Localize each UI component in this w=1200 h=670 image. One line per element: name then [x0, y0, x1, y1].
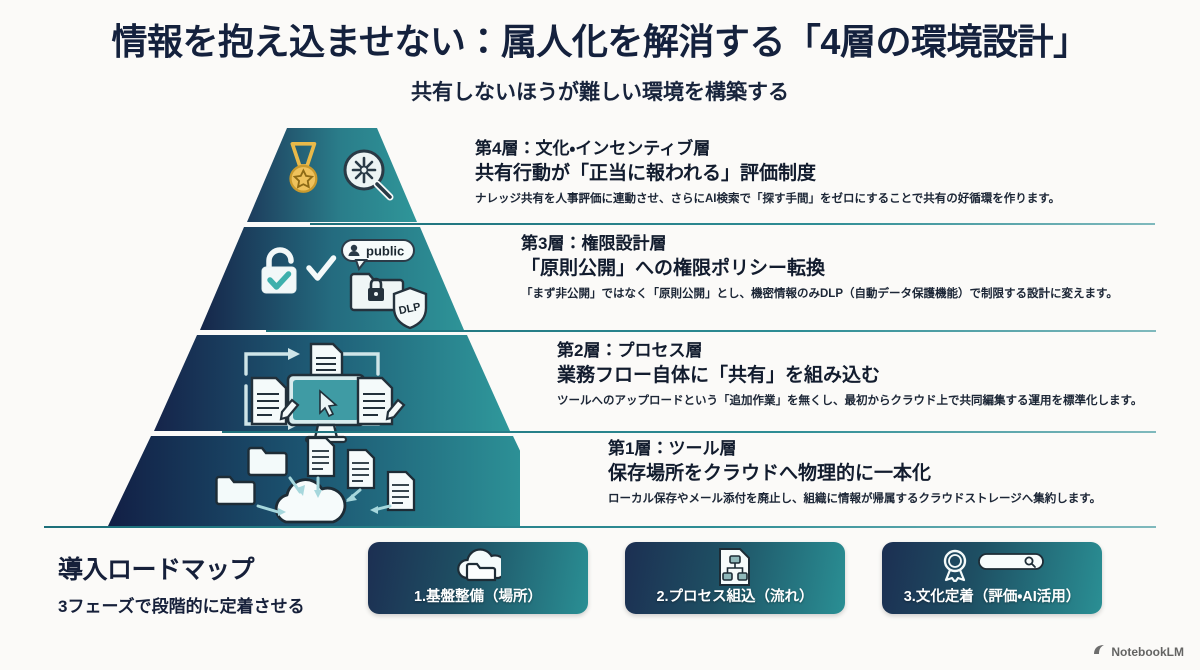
page-header: 情報を抱え込ませない：属人化を解消する「4層の環境設計」 共有しないほうが難しい…	[0, 0, 1200, 106]
layer-1-text: 第1層：ツール層 保存場所をクラウドへ物理的に一本化 ローカル保存やメール添付を…	[608, 438, 1101, 507]
award-icon	[945, 551, 965, 582]
folder-upper-icon	[249, 448, 287, 475]
cloud-folder-icon	[368, 548, 588, 582]
folder-left-icon	[217, 477, 255, 504]
roadmap-phase-label-2: 2.プロセス組込（流れ）	[656, 585, 813, 606]
pyramid-layer-4[interactable]	[247, 128, 417, 222]
flowchart-document-icon	[625, 548, 845, 586]
svg-text:public: public	[366, 244, 404, 259]
page-subtitle: 共有しないほうが難しい環境を構築する	[0, 76, 1200, 106]
document-b-icon	[348, 450, 374, 488]
layer-separator-4	[310, 223, 1155, 225]
layer-4-heading: 第4層：文化・インセンティブ層	[475, 138, 1060, 161]
layer-3-text: 第3層：権限設計層 「原則公開」への権限ポリシー転換 「まず非公開」ではなく「原…	[521, 233, 1118, 302]
pyramid-diagram: public DLP	[0, 128, 1200, 528]
layer-2-text: 第2層：プロセス層 業務フロー自体に「共有」を組み込む ツールへのアップロードと…	[557, 340, 1142, 409]
roadmap-phase-card-1[interactable]: 1.基盤整備（場所）	[368, 542, 588, 614]
layer-3-description: 「まず非公開」ではなく「原則公開」とし、機密情報のみDLP（自動データ保護機能）…	[521, 286, 1118, 302]
layer-2-heading: 第2層：プロセス層	[557, 340, 1142, 363]
document-c-icon	[388, 472, 414, 510]
layer-separator-2	[222, 431, 1156, 433]
layer-separator-1	[44, 526, 1156, 528]
layer-separator-3	[266, 330, 1156, 332]
document-a-icon	[308, 438, 334, 476]
layer-1-heading: 第1層：ツール層	[608, 438, 1101, 461]
layer-4-text: 第4層：文化・インセンティブ層 共有行動が「正当に報われる」評価制度 ナレッジ共…	[475, 138, 1060, 207]
watermark: NotebookLM	[1092, 643, 1184, 660]
award-search-icon	[882, 548, 1102, 582]
roadmap-title: 導入ロードマップ	[58, 550, 305, 586]
watermark-label: NotebookLM	[1111, 645, 1184, 659]
layer-2-subheading: 業務フロー自体に「共有」を組み込む	[557, 363, 1142, 390]
dlp-shield-icon: DLP	[394, 288, 426, 328]
roadmap-phase-card-2[interactable]: 2.プロセス組込（流れ）	[625, 542, 845, 614]
notebooklm-icon	[1092, 643, 1106, 660]
layer-2-description: ツールへのアップロードという「追加作業」を無くし、最初からクラウド上で共同編集す…	[557, 393, 1142, 409]
roadmap-note: 3フェーズで段階的に定着させる	[58, 592, 305, 617]
pyramid-shape: public DLP	[40, 128, 520, 528]
roadmap-label: 導入ロードマップ 3フェーズで段階的に定着させる	[58, 550, 305, 617]
layer-3-heading: 第3層：権限設計層	[521, 233, 1118, 256]
layer-4-description: ナレッジ共有を人事評価に連動させ、さらにAI検索で「探す手間」をゼロにすることで…	[475, 191, 1060, 207]
layer-1-description: ローカル保存やメール添付を廃止し、組織に情報が帰属するクラウドストレージへ集約し…	[608, 491, 1101, 507]
layer-1-subheading: 保存場所をクラウドへ物理的に一本化	[608, 461, 1101, 488]
roadmap-section: 導入ロードマップ 3フェーズで段階的に定着させる 1.基盤整備（場所） 2.プロ…	[0, 536, 1200, 636]
roadmap-phase-card-3[interactable]: 3.文化定着（評価・AI活用）	[882, 542, 1102, 614]
search-bar-icon	[979, 554, 1043, 569]
roadmap-phase-label-3: 3.文化定着（評価・AI活用）	[904, 585, 1081, 606]
layer-4-subheading: 共有行動が「正当に報われる」評価制度	[475, 161, 1060, 188]
page-title: 情報を抱え込ませない：属人化を解消する「4層の環境設計」	[0, 22, 1200, 62]
layer-3-subheading: 「原則公開」への権限ポリシー転換	[521, 256, 1118, 283]
roadmap-phase-label-1: 1.基盤整備（場所）	[414, 585, 542, 606]
